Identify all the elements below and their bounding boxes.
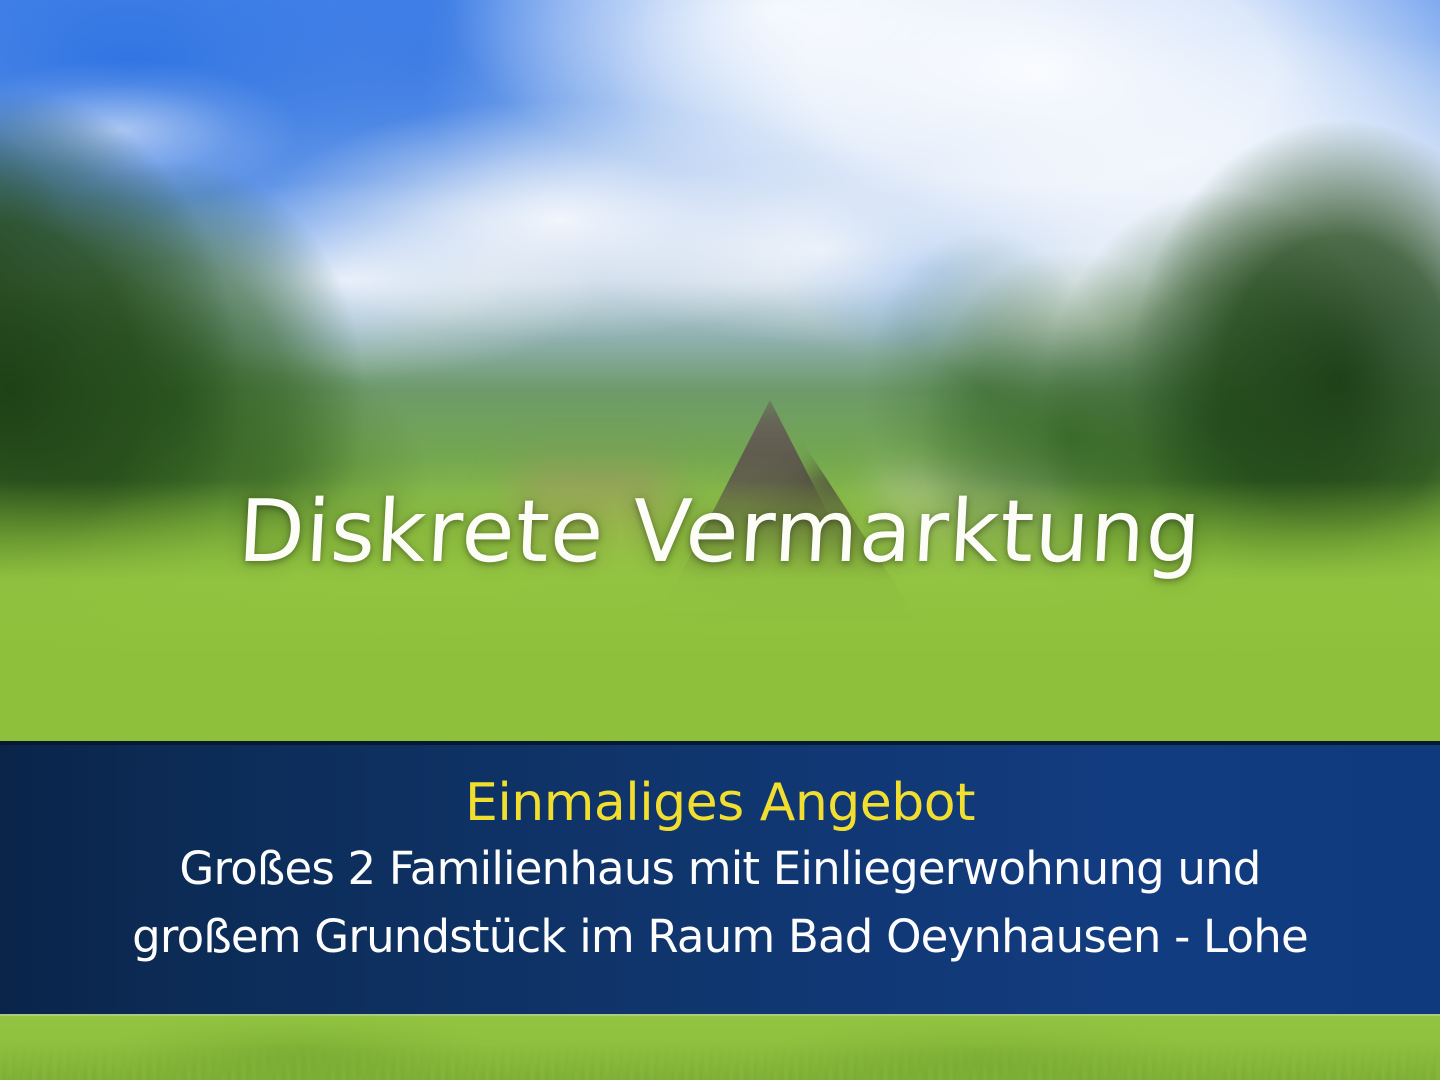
info-banner-content: Einmaliges Angebot Großes 2 Familienhaus… xyxy=(0,745,1440,967)
slide-canvas: Diskrete Vermarktung Einmaliges Angebot … xyxy=(0,0,1440,1080)
banner-subline-1: Großes 2 Familienhaus mit Einliegerwohnu… xyxy=(0,831,1440,899)
banner-subline-2: großem Grundstück im Raum Bad Oeynhausen… xyxy=(0,899,1440,967)
slide-title: Diskrete Vermarktung xyxy=(0,489,1440,575)
banner-headline: Einmaliges Angebot xyxy=(0,745,1440,831)
bottom-grass-strip xyxy=(0,1014,1440,1080)
grass-blades xyxy=(0,1014,1440,1080)
info-banner: Einmaliges Angebot Großes 2 Familienhaus… xyxy=(0,741,1440,1014)
